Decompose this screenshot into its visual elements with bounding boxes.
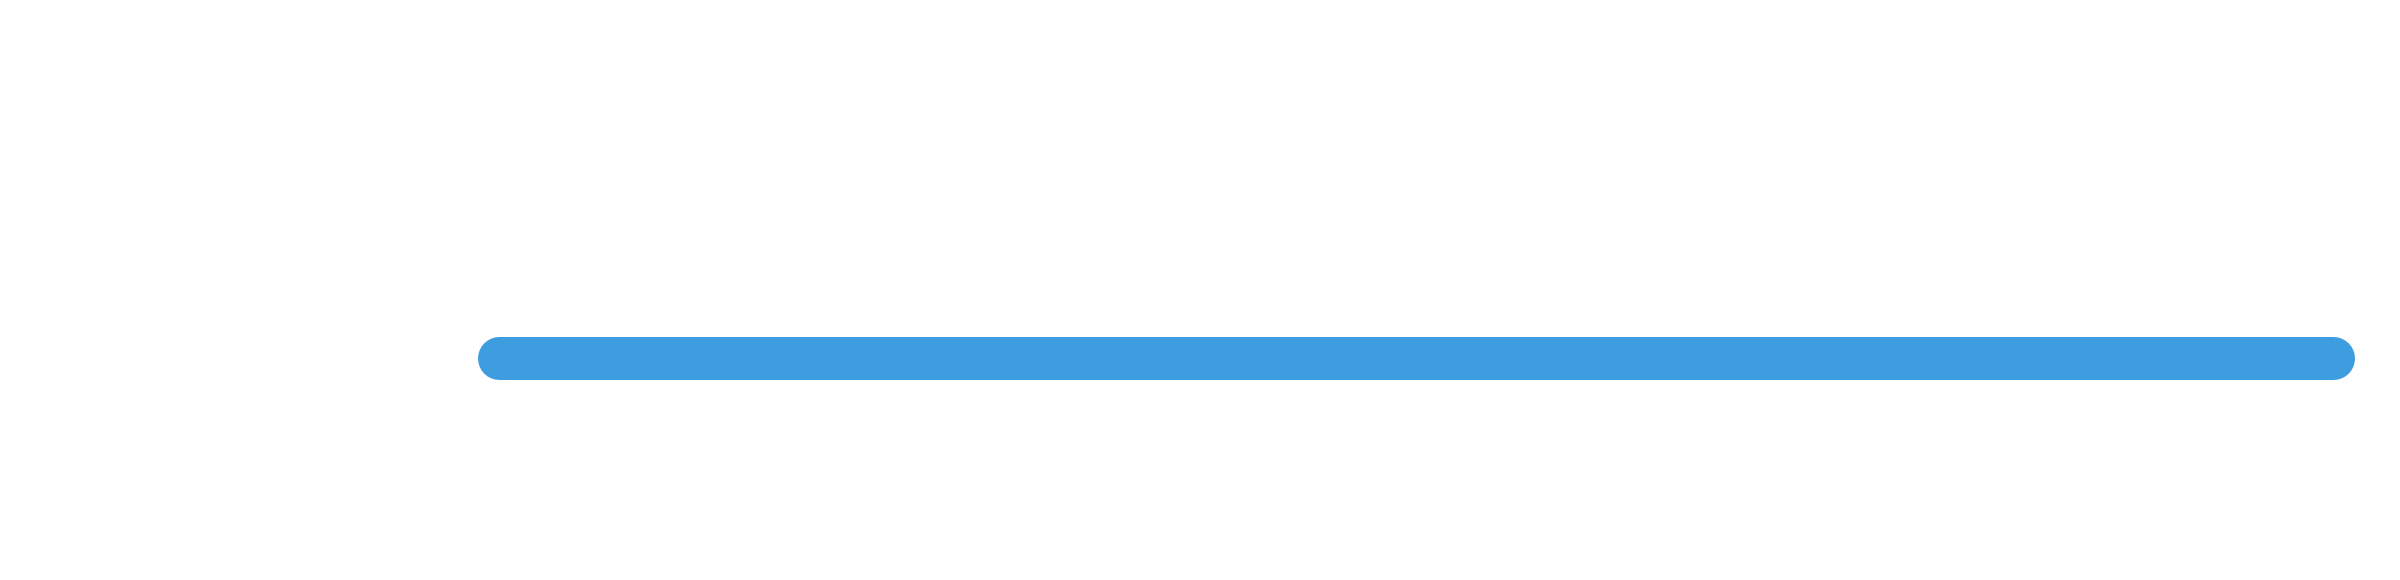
phylostratum-bar[interactable] xyxy=(478,337,2355,380)
phylostratum-chart xyxy=(0,0,2400,580)
